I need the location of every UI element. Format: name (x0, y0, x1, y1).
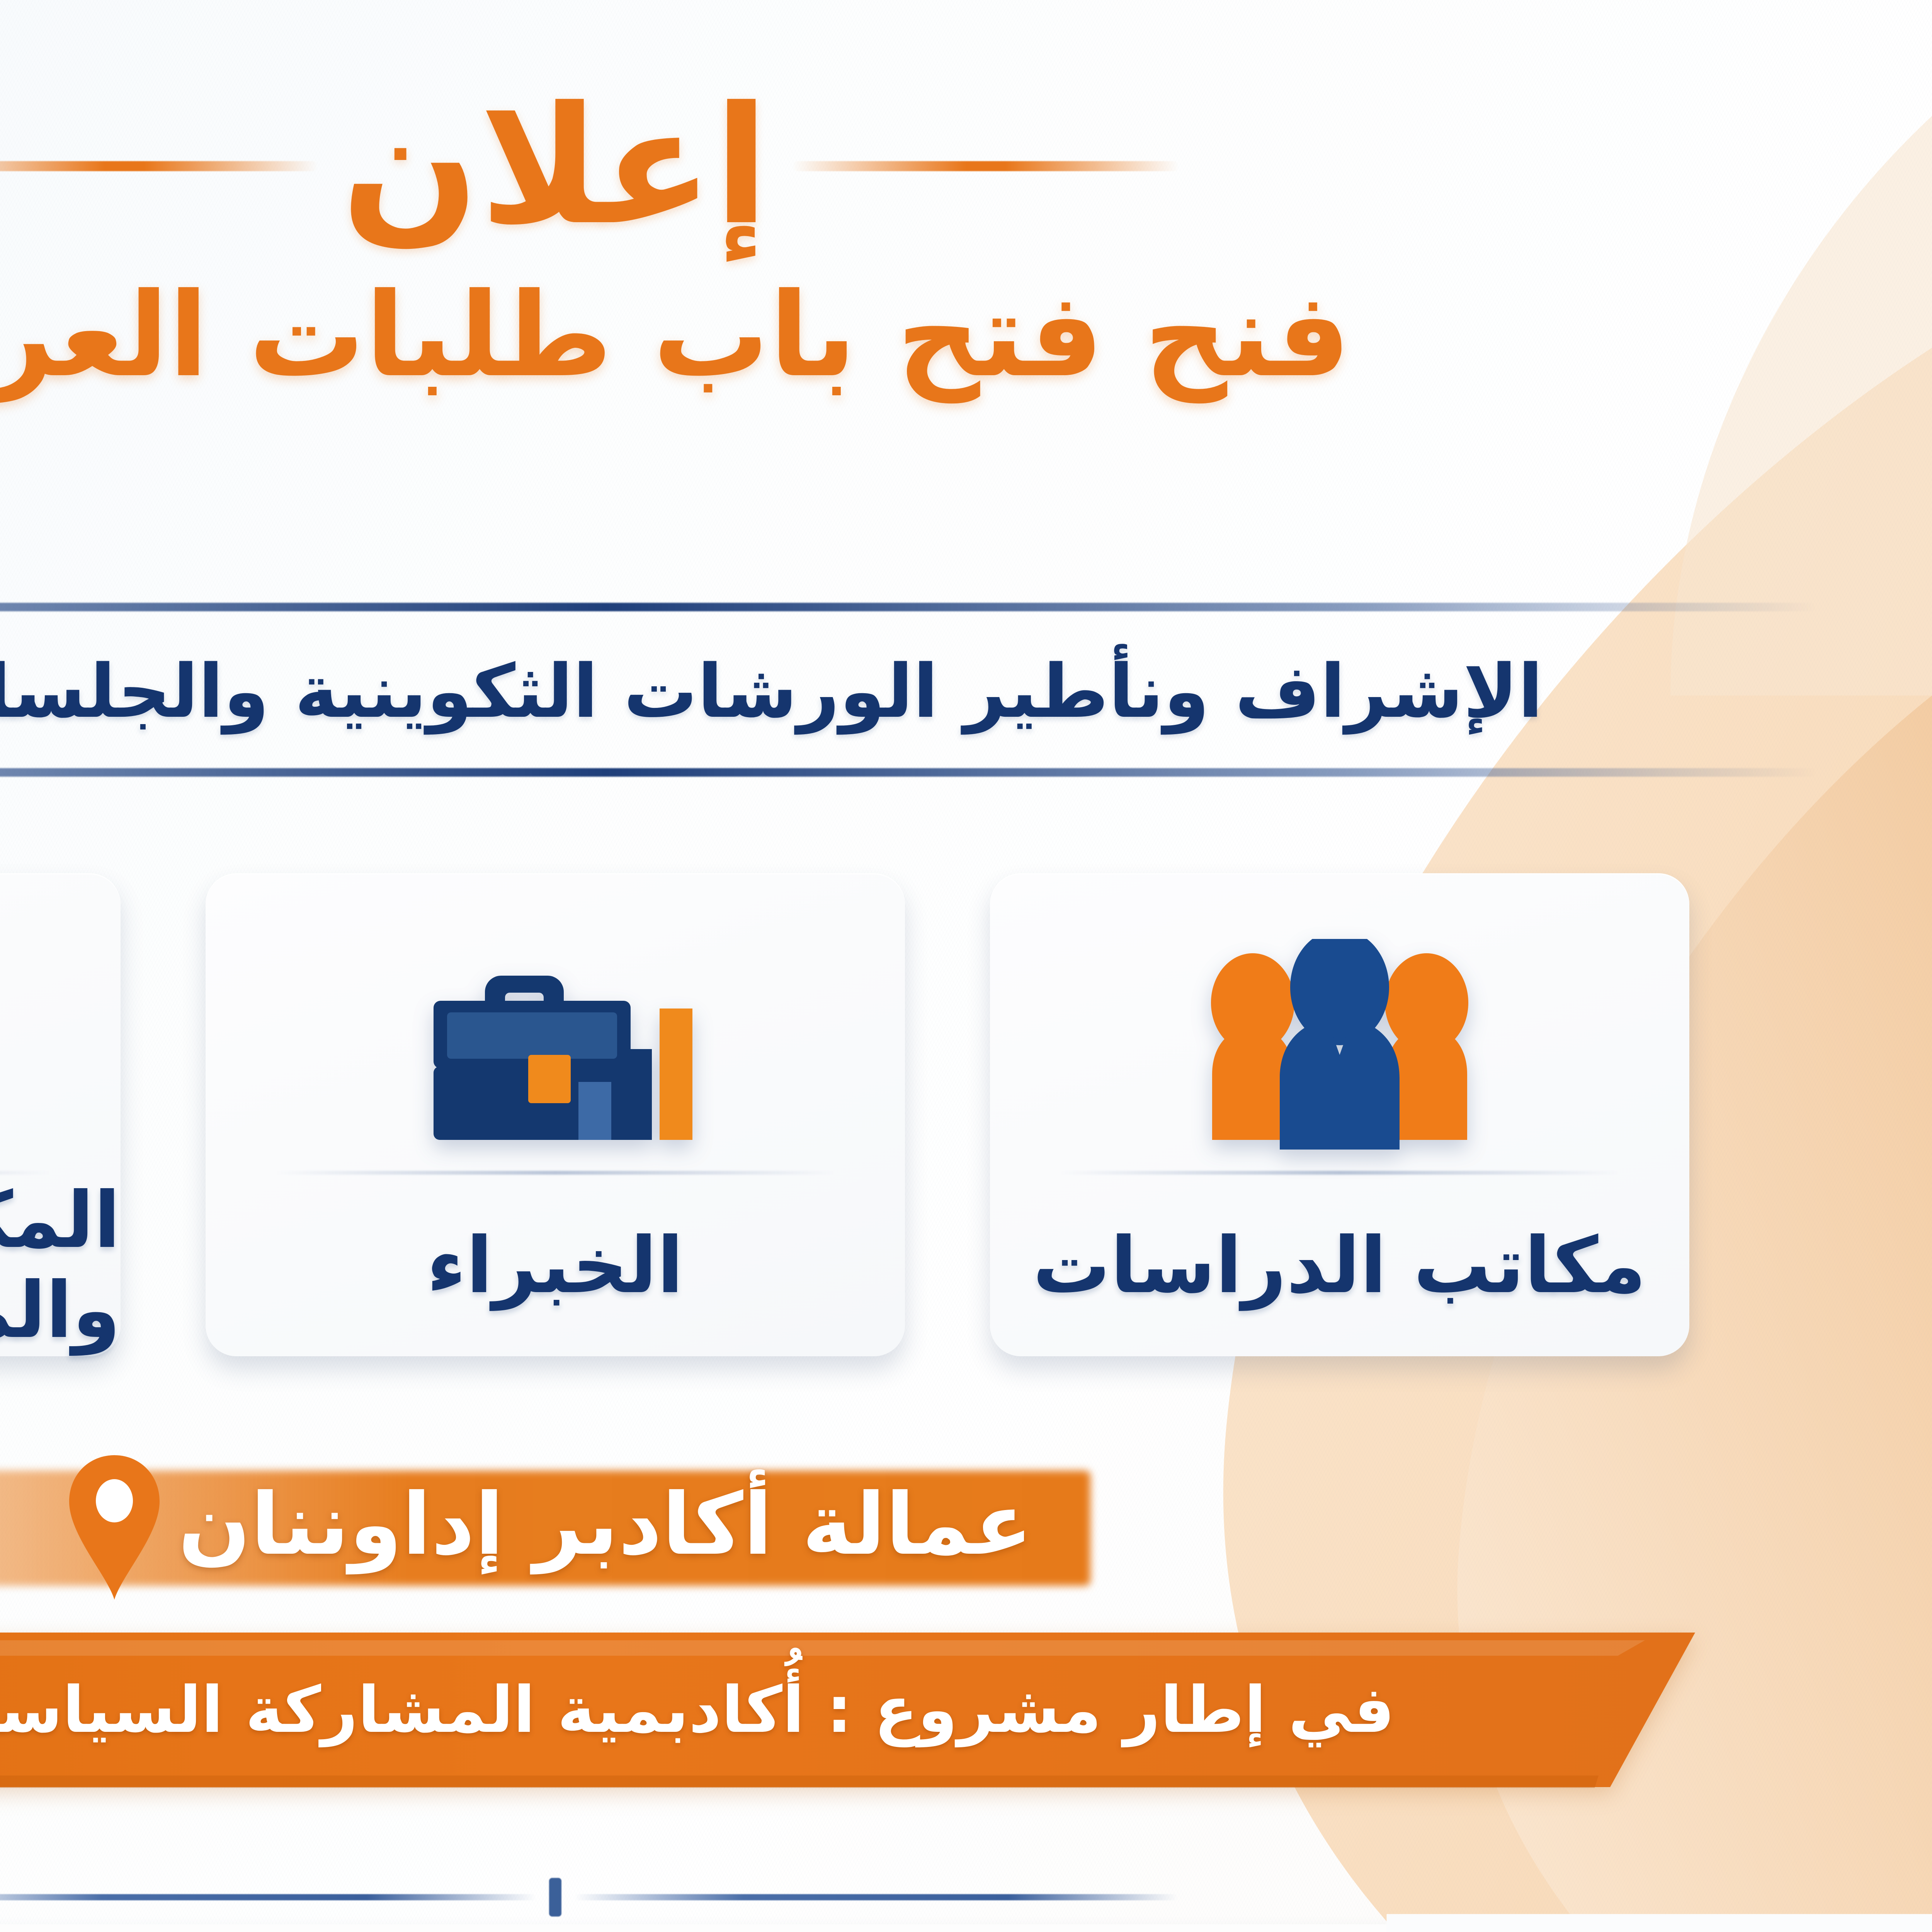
kicker-rule-left (793, 161, 1179, 171)
project-banner-text: في إطار مشروع : أُكادبمية المشاركة السيا… (0, 1673, 1395, 1747)
poster-canvas: إعلان فنح فتح باب طلبات العروض الإشراف و… (0, 0, 1932, 1932)
card-experts[interactable]: الخبراء (206, 873, 905, 1356)
card-bureaux-etudes[interactable]: مكاتب الدراسات (990, 873, 1689, 1356)
card-formateurs[interactable]: المكونات والمكوتون (0, 873, 121, 1356)
card-separator (1060, 1171, 1619, 1175)
project-ribbon: في إطار مشروع : أُكادبمية المشاركة السيا… (0, 1629, 1695, 1791)
divider-line-right (575, 1894, 1177, 1900)
subtitle-block: الإشراف ونأطير الورشات الثكوينية والجلسا… (0, 603, 1932, 777)
page-title: فنح فتح باب طلبات العروض (0, 263, 1932, 408)
project-ribbon-wrap: في إطار مشروع : أُكادبمية المشاركة السيا… (0, 1629, 1932, 1791)
briefcase-chart-icon (405, 920, 706, 1175)
kicker-row: إعلان (0, 58, 1932, 274)
category-cards-row: مكاتب الدراسات (0, 873, 1932, 1356)
subtitle-rule-top (0, 603, 1816, 611)
card-label: المكونات والمكوتون (0, 1175, 121, 1356)
card-label: مكاتب الدراسات (1033, 1175, 1646, 1356)
location-text: عمالة أكادبر إداوننان (163, 1459, 1067, 1597)
people-group-icon (1181, 920, 1498, 1175)
subtitle-text: الإشراف ونأطير الورشات الثكوينية والجلسا… (0, 611, 1932, 768)
divider-tick (549, 1878, 561, 1917)
section-divider (0, 1878, 1932, 1917)
partner-logos-panel: F DD Forum compétenc (0, 1924, 1670, 1932)
card-separator (0, 1171, 51, 1175)
subtitle-rule-bottom (0, 768, 1816, 777)
kicker-rule-right (0, 161, 318, 171)
kicker-word: إعلان (318, 89, 792, 243)
divider-line-left (0, 1894, 536, 1900)
location-band: عمالة أكادبر إداوننان (0, 1420, 1932, 1636)
card-label: الخبراء (427, 1175, 684, 1356)
card-separator (276, 1171, 835, 1175)
headline-block: إعلان فنح فتح باب طلبات العروض (0, 58, 1932, 408)
map-pin-icon (66, 1452, 163, 1604)
